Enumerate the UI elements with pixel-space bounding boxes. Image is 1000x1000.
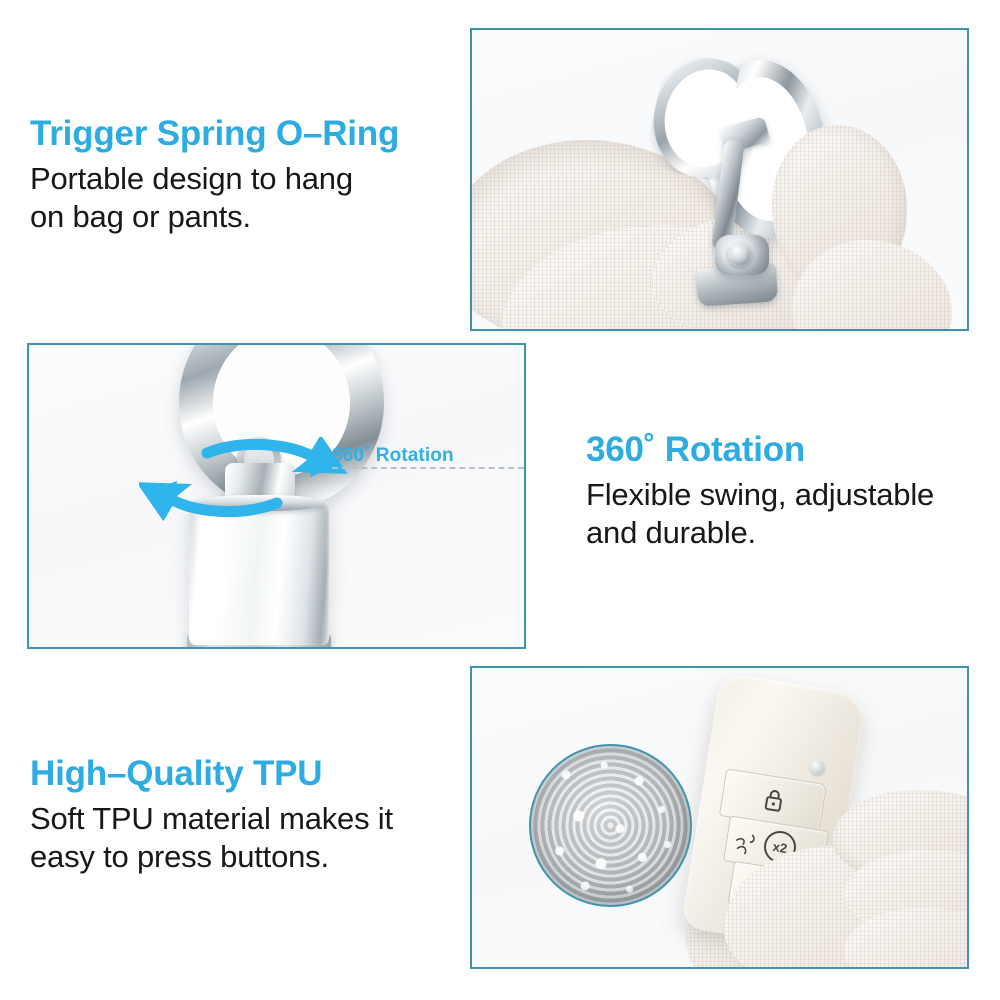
feature-block-trigger-spring-o-ring: Trigger Spring O–Ring Portable design to… bbox=[30, 116, 399, 235]
feature-body-high-quality-tpu: Soft TPU material makes it easy to press… bbox=[30, 800, 393, 876]
feature-body-line: and durable. bbox=[586, 514, 934, 552]
panel-360-rotation: 360˚ Rotation Close-up of the chrome swi… bbox=[27, 343, 526, 649]
feature-body-line: on bag or pants. bbox=[30, 198, 399, 236]
trunk-release-icon bbox=[732, 830, 766, 862]
callout-dashed-line bbox=[332, 467, 524, 469]
feature-body-trigger-spring-o-ring: Portable design to hang on bag or pants. bbox=[30, 160, 399, 236]
key-fob-led-icon bbox=[810, 760, 825, 775]
panel-trigger-spring-o-ring: Gloved hand holding a polished chrome tr… bbox=[470, 28, 969, 331]
trunk-x2-label: x2 bbox=[772, 839, 788, 854]
callout-label-360-rotation: 360˚ Rotation bbox=[332, 445, 454, 467]
feature-heading-360-rotation: 360˚ Rotation bbox=[586, 432, 934, 469]
rotation-arrow-icon bbox=[139, 437, 349, 527]
feature-body-line: Soft TPU material makes it bbox=[30, 800, 393, 838]
feature-body-360-rotation: Flexible swing, adjustable and durable. bbox=[586, 476, 934, 552]
carabiner-rivet-icon bbox=[728, 243, 752, 267]
product-feature-infographic: Trigger Spring O–Ring Portable design to… bbox=[0, 0, 1000, 1000]
tpu-pellets-icon bbox=[529, 744, 692, 907]
feature-block-high-quality-tpu: High–Quality TPU Soft TPU material makes… bbox=[30, 756, 393, 875]
feature-body-line: Portable design to hang bbox=[30, 160, 399, 198]
feature-body-line: easy to press buttons. bbox=[30, 838, 393, 876]
panel-high-quality-tpu: x2 Circle inset of translucent TPU pelle… bbox=[470, 666, 969, 969]
feature-heading-trigger-spring-o-ring: Trigger Spring O–Ring bbox=[30, 116, 399, 153]
feature-block-360-rotation: 360˚ Rotation Flexible swing, adjustable… bbox=[586, 432, 934, 551]
feature-heading-high-quality-tpu: High–Quality TPU bbox=[30, 756, 393, 793]
feature-body-line: Flexible swing, adjustable bbox=[586, 476, 934, 514]
padlock-closed-icon bbox=[762, 787, 786, 814]
